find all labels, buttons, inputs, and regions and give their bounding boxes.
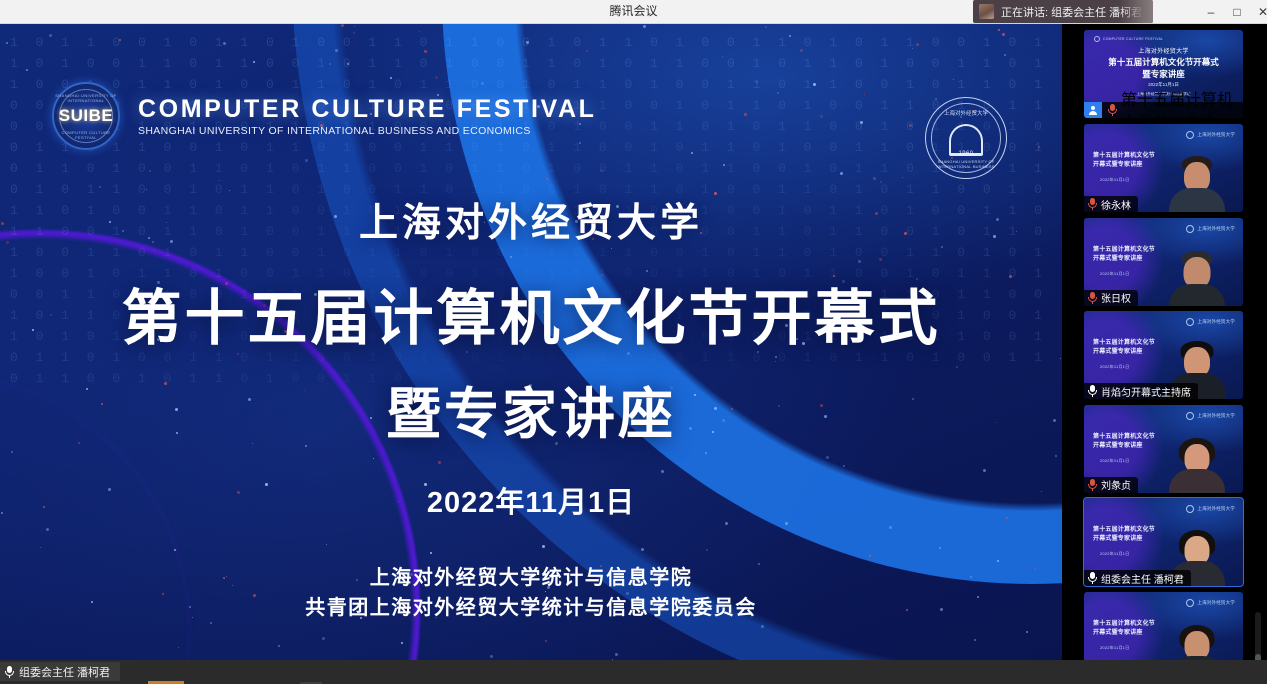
seal-icon — [1186, 225, 1194, 233]
tile-slide-line-1: 第十五届计算机文化节 — [1093, 433, 1155, 442]
particle-dot — [341, 24, 344, 27]
screen-share-avatar-badge — [1084, 102, 1102, 118]
participant-video-rail[interactable]: COMPUTER CULTURE FESTIVAL 上海对外经贸大学 第十五届计… — [1062, 24, 1267, 660]
seal-icon — [1186, 131, 1194, 139]
microphone-speaking-icon — [1108, 104, 1117, 116]
thumb-main-title-line-1: 第十五届计算机文化节开幕式 — [1084, 56, 1243, 68]
slide-sub-title: 暨专家讲座 — [0, 369, 1062, 449]
thumb-main-title: 第十五届计算机文化节开幕式 暨专家讲座 — [1084, 56, 1243, 80]
participant-tile[interactable]: 上海对外经贸大学第十五届计算机文化节开幕式暨专家讲座2022年11月1日肖焰匀开… — [1084, 311, 1243, 399]
tile-university-seal: 上海对外经贸大学 — [1186, 412, 1235, 420]
particle-dot — [777, 92, 779, 94]
tile-university-seal: 上海对外经贸大学 — [1186, 131, 1235, 139]
participant-video-image — [1167, 150, 1227, 212]
window-titlebar: 腾讯会议 正在讲话: 组委会主任 潘柯君 – □ ✕ — [0, 0, 1267, 24]
particle-dot — [390, 77, 392, 79]
particle-dot — [723, 164, 725, 166]
rail-scrollbar[interactable] — [1255, 612, 1261, 660]
logo-ring-bottom-text: COMPUTER CULTURE FESTIVAL — [54, 130, 118, 140]
particle-dot — [600, 169, 603, 172]
tile-slide-date: 2022年11月1日 — [1100, 551, 1129, 557]
particle-dot — [1038, 146, 1040, 148]
particle-dot — [219, 180, 220, 181]
particle-dot — [149, 170, 151, 172]
person-icon — [1089, 106, 1098, 115]
particle-dot — [26, 69, 28, 71]
particle-dot — [419, 31, 420, 32]
slide-organizers: 上海对外经贸大学统计与信息学院 共青团上海对外经贸大学统计与信息学院委员会 — [0, 563, 1062, 623]
tile-slide-line-1: 第十五届计算机文化节 — [1093, 620, 1155, 629]
particle-dot — [424, 50, 427, 53]
organizer-line-2: 共青团上海对外经贸大学统计与信息学院委员会 — [0, 593, 1062, 623]
festival-title: COMPUTER CULTURE FESTIVAL — [138, 95, 597, 124]
seal-chinese-text: 上海对外经贸大学 — [926, 109, 1006, 117]
participant-video-image — [1167, 244, 1227, 306]
tile-slide-line-2: 开幕式暨专家讲座 — [1093, 442, 1155, 451]
particle-dot — [860, 121, 863, 124]
person-body — [1169, 284, 1225, 306]
particle-dot — [253, 61, 255, 63]
participant-label: 组委会主任 潘柯君 — [1084, 570, 1191, 586]
thumb-brand: COMPUTER CULTURE FESTIVAL — [1094, 36, 1163, 42]
particle-dot — [546, 178, 548, 180]
particle-dot — [873, 177, 876, 180]
thumb-university: 上海对外经贸大学 — [1084, 46, 1243, 55]
microphone-speaking-icon — [1088, 198, 1097, 210]
participant-video-image — [1167, 431, 1227, 493]
particle-dot — [691, 152, 693, 154]
minimize-icon[interactable]: – — [1197, 0, 1225, 23]
seal-english-text: SHANGHAI UNIVERSITY OF INTERNATIONAL BUS… — [926, 159, 1006, 169]
particle-dot — [1026, 631, 1028, 633]
particle-dot — [761, 625, 764, 628]
tile-seal-text: 上海对外经贸大学 — [1197, 226, 1235, 232]
particle-dot — [614, 143, 615, 144]
tile-slide-line-2: 开幕式暨专家讲座 — [1093, 535, 1155, 544]
tile-slide-text: 第十五届计算机文化节开幕式暨专家讲座 — [1093, 620, 1155, 638]
suibe-festival-logo-icon: SHANGHAI UNIVERSITY OF INTERNATIONAL SUI… — [52, 82, 120, 150]
tile-seal-text: 上海对外经贸大学 — [1197, 600, 1235, 606]
thumb-brand-logo-icon — [1094, 36, 1100, 42]
particle-dot — [902, 177, 903, 178]
particle-dot — [401, 642, 403, 644]
tile-slide-line-1: 第十五届计算机文化节 — [1093, 152, 1155, 161]
particle-dot — [178, 647, 179, 648]
person-body — [1169, 188, 1225, 212]
active-speaker-avatar — [979, 4, 994, 19]
tile-seal-text: 上海对外经贸大学 — [1197, 506, 1235, 512]
person-body — [1169, 469, 1225, 493]
thumb-main-title-line-2: 暨专家讲座 — [1084, 68, 1243, 80]
participant-name: 肖焰匀开幕式主持席 — [1101, 384, 1191, 399]
active-speaker-indicator[interactable]: 正在讲话: 组委会主任 潘柯君 — [973, 0, 1153, 23]
particle-dot — [789, 35, 791, 37]
tile-slide-date: 2022年11月1日 — [1100, 458, 1129, 464]
organizer-line-1: 上海对外经贸大学统计与信息学院 — [0, 563, 1062, 593]
participant-name: 组委会主任 潘柯君 — [1101, 571, 1184, 586]
particle-dot — [864, 94, 865, 95]
particle-dot — [223, 42, 226, 45]
particle-dot — [916, 43, 919, 46]
tile-slide-text: 第十五届计算机文化节开幕式暨专家讲座 — [1093, 339, 1155, 357]
microphone-icon — [5, 666, 14, 678]
microphone-speaking-icon — [1088, 292, 1097, 304]
tile-university-seal: 上海对外经贸大学 — [1186, 599, 1235, 607]
speaker-indicator-fade — [1119, 0, 1153, 23]
logo-mark-text: SUIBE — [54, 106, 118, 126]
tile-slide-line-1: 第十五届计算机文化节 — [1093, 339, 1155, 348]
bottom-speaker-name: 组委会主任 潘柯君 — [19, 664, 110, 680]
thumb-brand-text: COMPUTER CULTURE FESTIVAL — [1103, 37, 1163, 41]
particle-dot — [998, 29, 1000, 31]
tile-seal-text: 上海对外经贸大学 — [1197, 319, 1235, 325]
participant-name: 徐永林 — [1101, 197, 1131, 212]
participant-name: 刘彖贞 — [1101, 477, 1131, 492]
particle-dot — [765, 26, 767, 28]
particle-dot — [880, 181, 882, 183]
seal-icon — [1186, 318, 1194, 326]
slide-body: 上海对外经贸大学 第十五届计算机文化节开幕式 暨专家讲座 2022年11月1日 … — [0, 192, 1062, 623]
tile-slide-line-1: 第十五届计算机文化节 — [1093, 246, 1155, 255]
tile-slide-text: 第十五届计算机文化节开幕式暨专家讲座 — [1093, 246, 1155, 264]
particle-dot — [756, 81, 758, 83]
slide-university-name: 上海对外经贸大学 — [0, 192, 1062, 248]
maximize-icon[interactable]: □ — [1223, 0, 1251, 23]
seal-year: 1960 — [959, 151, 974, 157]
particle-dot — [586, 50, 588, 52]
seal-icon — [1186, 599, 1194, 607]
particle-dot — [722, 56, 723, 57]
slide-header-texts: COMPUTER CULTURE FESTIVAL SHANGHAI UNIVE… — [138, 95, 597, 137]
slide-main-title: 第十五届计算机文化节开幕式 — [0, 270, 1062, 357]
tile-slide-date: 2022年11月1日 — [1100, 177, 1129, 183]
participant-label: 刘彖贞 — [1084, 477, 1138, 493]
close-icon[interactable]: ✕ — [1249, 0, 1267, 23]
tile-slide-line-2: 开幕式暨专家讲座 — [1093, 161, 1155, 170]
microphone-icon — [1088, 385, 1097, 397]
microphone-speaking-icon — [1088, 479, 1097, 491]
particle-dot — [305, 159, 308, 162]
participant-tile[interactable]: 上海对外经贸大学第十五届计算机文化节开幕式暨专家讲座2022年11月1日组委会主… — [1084, 498, 1243, 586]
particle-dot — [347, 63, 349, 65]
particle-dot — [820, 115, 823, 118]
tile-seal-text: 上海对外经贸大学 — [1197, 132, 1235, 138]
participant-tile[interactable]: 上海对外经贸大学第十五届计算机文化节开幕式暨专家讲座2022年11月1日刘彖贞 — [1084, 405, 1243, 493]
particle-dot — [322, 637, 325, 640]
screen-share-thumbnail-tile[interactable]: COMPUTER CULTURE FESTIVAL 上海对外经贸大学 第十五届计… — [1084, 30, 1243, 118]
particle-dot — [526, 41, 529, 44]
tile-slide-date: 2022年11月1日 — [1100, 645, 1129, 651]
particle-dot — [490, 655, 493, 658]
tile-slide-text: 第十五届计算机文化节开幕式暨专家讲座 — [1093, 152, 1155, 170]
tile-slide-line-2: 开幕式暨专家讲座 — [1093, 629, 1155, 638]
particle-dot — [1002, 33, 1005, 36]
particle-dot — [800, 49, 803, 52]
tile-slide-text: 第十五届计算机文化节开幕式暨专家讲座 — [1093, 526, 1155, 544]
particle-dot — [146, 189, 147, 190]
particle-dot — [1004, 54, 1006, 56]
participant-tile[interactable]: 上海对外经贸大学第十五届计算机文化节开幕式暨专家讲座2022年11月1日王利娟 — [1084, 592, 1243, 661]
participant-name: 张日权 — [1101, 290, 1131, 305]
logo-ring-top-text: SHANGHAI UNIVERSITY OF INTERNATIONAL — [54, 93, 118, 103]
particle-dot — [49, 34, 52, 37]
particle-dot — [278, 645, 280, 647]
particle-dot — [229, 190, 230, 191]
slide-header: SHANGHAI UNIVERSITY OF INTERNATIONAL SUI… — [52, 82, 597, 150]
slide-date: 2022年11月1日 — [0, 479, 1062, 521]
tile-seal-text: 上海对外经贸大学 — [1197, 413, 1235, 419]
particle-dot — [912, 48, 913, 49]
shared-screen-stage[interactable]: 1 0 1 1 0 0 1 0 1 1 0 1 0 0 1 1 0 1 1 0 … — [0, 24, 1062, 660]
particle-dot — [335, 49, 338, 52]
particle-dot — [435, 76, 438, 79]
participant-label: 肖焰匀开幕式主持席 — [1084, 383, 1198, 399]
particle-dot — [643, 25, 646, 28]
particle-dot — [354, 26, 355, 27]
particle-dot — [6, 42, 8, 44]
participant-label: 张日权 — [1084, 290, 1138, 306]
particle-dot — [353, 32, 355, 34]
tile-slide-text: 第十五届计算机文化节开幕式暨专家讲座 — [1093, 433, 1155, 451]
particle-dot — [99, 186, 101, 188]
bottom-active-speaker: 组委会主任 潘柯君 — [0, 662, 120, 681]
particle-dot — [329, 63, 331, 65]
particle-dot — [119, 39, 121, 41]
particle-dot — [615, 653, 618, 656]
particle-dot — [813, 83, 816, 86]
tile-slide-date: 2022年11月1日 — [1100, 271, 1129, 277]
participant-tile[interactable]: 上海对外经贸大学第十五届计算机文化节开幕式暨专家讲座2022年11月1日徐永林 — [1084, 124, 1243, 212]
participant-tile[interactable]: 上海对外经贸大学第十五届计算机文化节开幕式暨专家讲座2022年11月1日张日权 — [1084, 218, 1243, 306]
seal-icon — [1186, 412, 1194, 420]
university-seal-icon: 上海对外经贸大学 1960 SHANGHAI UNIVERSITY OF INT… — [925, 97, 1007, 179]
screen-share-label: 第十五届计算机文化节组委会 — [1102, 102, 1243, 118]
particle-dot — [974, 639, 976, 641]
particle-dot — [744, 113, 747, 116]
tile-slide-line-2: 开幕式暨专家讲座 — [1093, 255, 1155, 264]
tile-slide-date: 2022年11月1日 — [1100, 364, 1129, 370]
bottom-status-bar: 组委会主任 潘柯君 — [0, 660, 1267, 684]
particle-dot — [953, 79, 954, 80]
seal-icon — [1186, 505, 1194, 513]
particle-dot — [840, 172, 843, 175]
tile-slide-line-1: 第十五届计算机文化节 — [1093, 526, 1155, 535]
participant-video-image — [1167, 618, 1227, 661]
tile-university-seal: 上海对外经贸大学 — [1186, 225, 1235, 233]
particle-dot — [935, 98, 937, 100]
tile-university-seal: 上海对外经贸大学 — [1186, 318, 1235, 326]
microphone-icon — [1088, 572, 1097, 584]
tile-slide-line-2: 开幕式暨专家讲座 — [1093, 348, 1155, 357]
particle-dot — [909, 124, 912, 127]
festival-subtitle: SHANGHAI UNIVERSITY OF INTERNATIONAL BUS… — [138, 125, 597, 137]
tile-university-seal: 上海对外经贸大学 — [1186, 505, 1235, 513]
participant-label: 徐永林 — [1084, 196, 1138, 212]
screen-share-owner-name: 第十五届计算机文化节组委会 — [1121, 86, 1237, 118]
particle-dot — [545, 640, 547, 642]
presentation-slide: 1 0 1 1 0 0 1 0 1 1 0 1 0 0 1 1 0 1 1 0 … — [0, 24, 1062, 660]
